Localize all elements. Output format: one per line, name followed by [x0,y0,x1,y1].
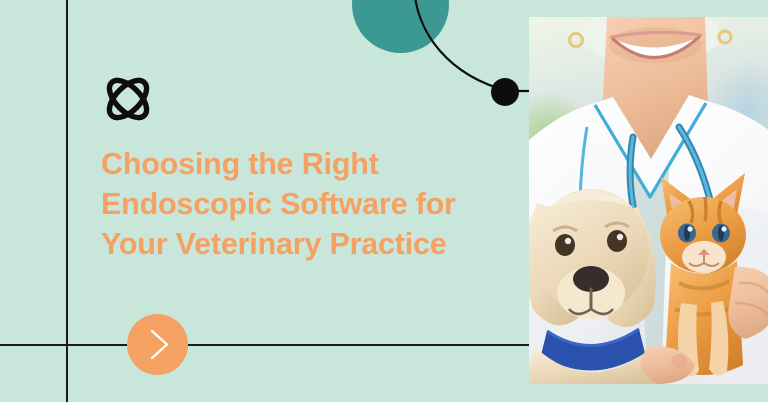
next-arrow-button[interactable] [127,314,188,375]
atom-rosette-logo [97,70,159,128]
vertical-rule [66,0,68,402]
chevron-right-icon [127,314,188,375]
headline-line-1: Choosing the Right [101,144,521,184]
hero-photo [529,17,768,384]
blog-banner: Choosing the Right Endoscopic Software f… [0,0,768,402]
vet-with-puppy-and-kitten-illustration [529,17,768,384]
page-title: Choosing the Right Endoscopic Software f… [101,144,521,264]
headline-line-2: Endoscopic Software for [101,184,521,224]
connector-end-dot [491,78,519,106]
curved-connector-line [400,0,540,109]
headline-line-3: Your Veterinary Practice [101,224,521,264]
